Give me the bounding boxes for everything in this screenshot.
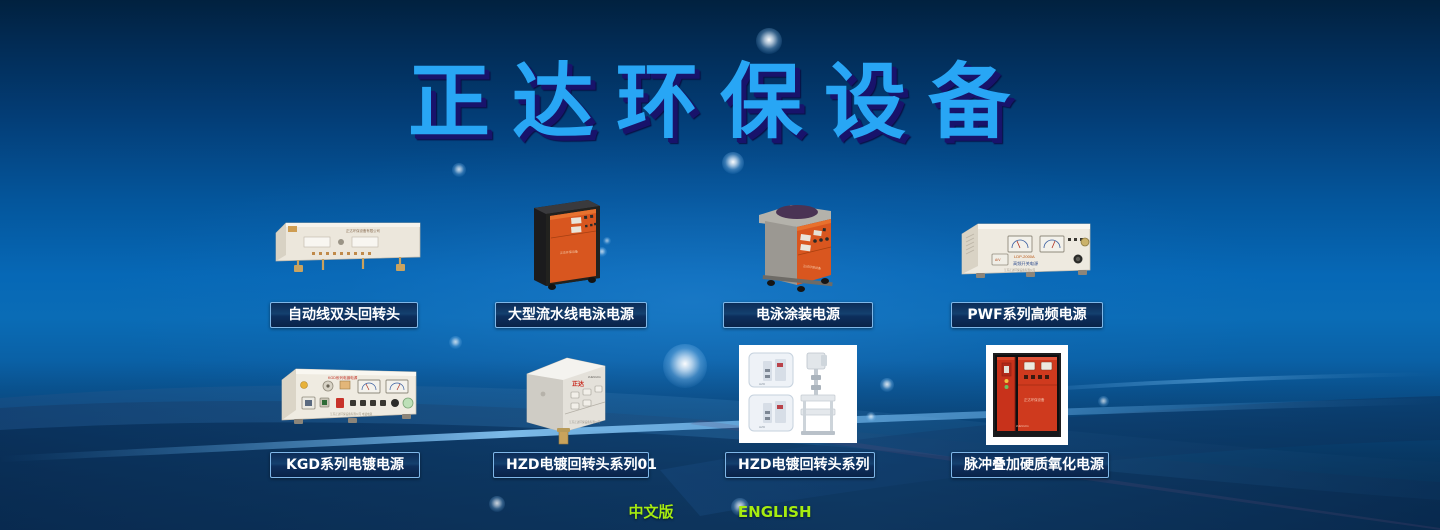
svg-text:江苏正达环保设备有限公司 电镀电源: 江苏正达环保设备有限公司 电镀电源 [330, 412, 373, 416]
svg-text:高频开关电源: 高频开关电源 [1013, 260, 1039, 267]
language-switch-bar: 中文版 ENGLISH [0, 501, 1440, 522]
page-title: 正达环保设备 [0, 58, 1440, 148]
product-label-2[interactable]: 电泳涂装电源 [723, 302, 873, 328]
product-label-1[interactable]: 大型流水线电泳电源 [495, 302, 647, 328]
pulse-superimposed-hard-anodizing-power-supply-photo: 正达环保设备 ZHENGDA [986, 345, 1068, 445]
large-assembly-line-electrophoresis-power-supply-photo: 正达环保设备 [524, 196, 606, 292]
svg-text:江苏正达环保设备有限公司: 江苏正达环保设备有限公司 [569, 420, 601, 424]
automatic-line-double-head-rotary-unit-photo: 正达环保设备有限公司 [268, 213, 423, 275]
product-image-5[interactable]: 正达 ZHENGDA 江苏正达环保设备有限公司 [519, 352, 619, 448]
product-label-3[interactable]: PWF系列高频电源 [951, 302, 1103, 328]
product-label-4[interactable]: KGD系列电镀电源 [270, 452, 420, 478]
product-image-3[interactable]: A/V LDP-2000A 高频开关电源 江苏正达环保设备有限公司 [956, 216, 1096, 286]
product-label-5[interactable]: HZD电镀回转头系列01 [493, 452, 649, 478]
electrophoretic-coating-power-supply-photo: 正达环保设备 [751, 197, 839, 293]
product-image-7[interactable]: 正达环保设备 ZHENGDA [986, 345, 1068, 445]
product-label-7[interactable]: 脉冲叠加硬质氧化电源 [951, 452, 1109, 478]
svg-text:正达环保设备: 正达环保设备 [1024, 397, 1045, 402]
svg-text:LDP-2000A: LDP-2000A [1014, 254, 1035, 259]
product-label-0[interactable]: 自动线双头回转头 [270, 302, 418, 328]
product-label-6[interactable]: HZD电镀回转头系列 [725, 452, 875, 478]
hzd-electroplating-rotary-head-series-01-photo: 正达 ZHENGDA 江苏正达环保设备有限公司 [519, 352, 619, 448]
splash-page: 正达环保设备 正达环保设备有限公司 [0, 0, 1440, 530]
svg-text:HZD: HZD [759, 382, 766, 386]
product-image-0[interactable]: 正达环保设备有限公司 [268, 213, 423, 275]
english-version-link[interactable]: ENGLISH [738, 503, 812, 521]
svg-text:江苏正达环保设备有限公司: 江苏正达环保设备有限公司 [1004, 268, 1036, 272]
kgd-series-electroplating-power-supply-photo: KGD系列电镀电源 江苏正达环保设备有限公司 电镀电源 [276, 362, 422, 430]
chinese-version-link[interactable]: 中文版 [628, 501, 673, 522]
svg-text:正达环保设备有限公司: 正达环保设备有限公司 [346, 228, 380, 233]
svg-text:正达: 正达 [572, 380, 584, 388]
svg-text:HZD: HZD [759, 425, 766, 429]
svg-text:KGD系列电镀电源: KGD系列电镀电源 [328, 375, 358, 380]
hzd-electroplating-rotary-head-series-photo: HZD HZD [739, 345, 857, 443]
product-image-6[interactable]: HZD HZD [739, 345, 857, 443]
svg-text:ZHENGDA: ZHENGDA [588, 375, 601, 379]
product-image-1[interactable]: 正达环保设备 [524, 196, 606, 292]
product-image-4[interactable]: KGD系列电镀电源 江苏正达环保设备有限公司 电镀电源 [276, 362, 422, 430]
svg-text:ZHENGDA: ZHENGDA [1016, 424, 1029, 428]
product-image-2[interactable]: 正达环保设备 [751, 197, 839, 293]
pwf-series-high-frequency-power-supply-photo: A/V LDP-2000A 高频开关电源 江苏正达环保设备有限公司 [956, 216, 1096, 286]
svg-text:A/V: A/V [995, 258, 1001, 262]
